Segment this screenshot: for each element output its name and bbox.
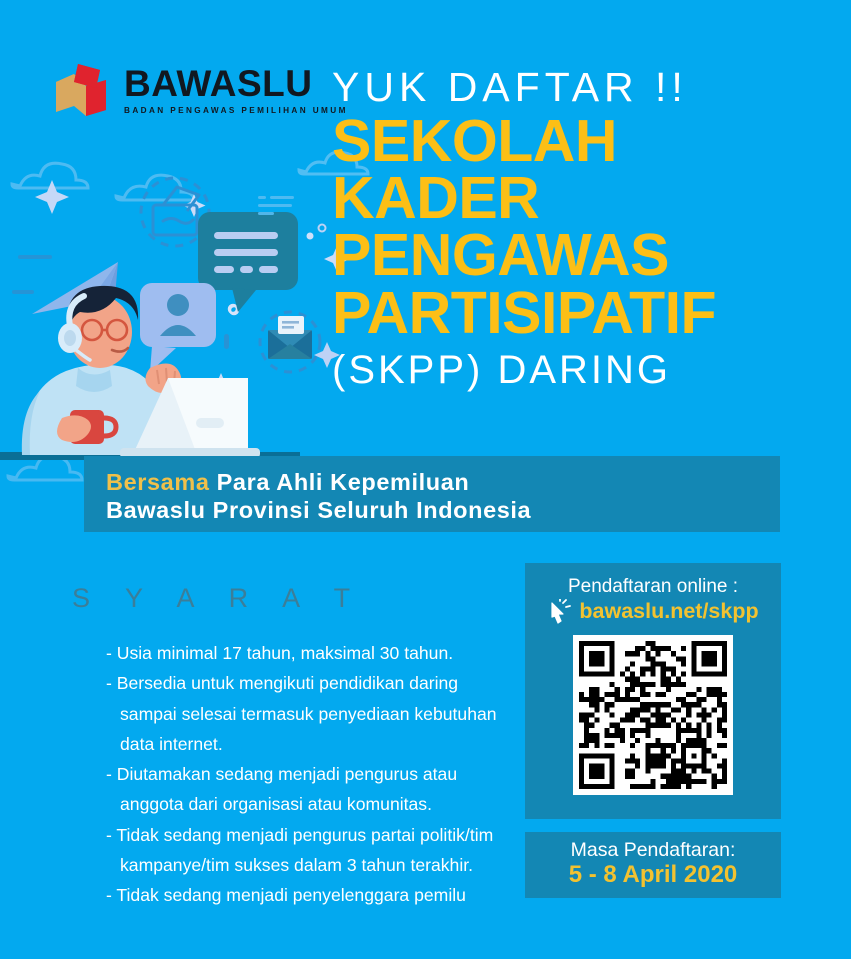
expert-banner: Bersama Para Ahli Kepemiluan Bawaslu Pro… <box>84 456 780 532</box>
headline-subtitle: (SKPP) DARING <box>332 348 832 392</box>
requirement-item: - Bersedia untuk mengikuti pendidikan da… <box>106 668 556 698</box>
sparkle-icon <box>183 194 206 217</box>
expert-banner-inner: Bersama Para Ahli Kepemiluan Bawaslu Pro… <box>84 456 780 524</box>
circle-dot <box>229 305 237 313</box>
period-label: Masa Pendaftaran: <box>525 832 781 861</box>
registration-panel: Pendaftaran online : bawaslu.net/skpp <box>525 563 781 819</box>
requirement-item: anggota dari organisasi atau komunitas. <box>106 789 556 819</box>
click-cursor-icon <box>547 599 573 625</box>
requirement-item: - Diutamakan sedang menjadi pengurus ata… <box>106 759 556 789</box>
registration-period-panel: Masa Pendaftaran: 5 - 8 April 2020 <box>525 832 781 898</box>
expert-banner-rest: Para Ahli Kepemiluan <box>210 469 470 495</box>
headline-line-4: PARTISIPATIF <box>332 285 832 342</box>
headline-line-3: PENGAWAS <box>332 227 832 284</box>
requirements-list: - Usia minimal 17 tahun, maksimal 30 tah… <box>66 638 556 910</box>
poster: BAWASLU BADAN PENGAWAS PEMILIHAN UMUM YU… <box>0 0 851 959</box>
headline-block: YUK DAFTAR !! SEKOLAH KADER PENGAWAS PAR… <box>332 66 832 392</box>
person-laptop-illustration <box>0 286 300 460</box>
circle-dot <box>307 233 314 240</box>
registration-url-row: bawaslu.net/skpp <box>525 599 781 625</box>
motion-dashes <box>206 326 229 349</box>
expert-banner-line-1: Bersama Para Ahli Kepemiluan <box>106 468 780 496</box>
logo-text-block: BAWASLU BADAN PENGAWAS PEMILIHAN UMUM <box>124 65 348 115</box>
expert-banner-highlight: Bersama <box>106 469 210 495</box>
tiny-text-marks <box>258 196 294 215</box>
avatar-bubble-icon <box>140 283 216 372</box>
headline-line-2: KADER <box>332 170 832 227</box>
motion-dashes <box>12 255 52 294</box>
ballot-box-icon <box>52 62 110 118</box>
qr-code[interactable] <box>573 635 733 795</box>
expert-banner-line-2: Bawaslu Provinsi Seluruh Indonesia <box>106 496 780 524</box>
headline-main: SEKOLAH KADER PENGAWAS PARTISIPATIF <box>332 113 832 342</box>
requirement-item: - Tidak sedang menjadi pengurus partai p… <box>106 820 556 850</box>
cloud-icon <box>116 175 194 200</box>
registration-url[interactable]: bawaslu.net/skpp <box>579 599 758 624</box>
sparkle-icon <box>211 373 231 393</box>
requirement-item: - Tidak sedang menjadi penyelenggara pem… <box>106 880 556 910</box>
envelope-dashed-icon <box>260 312 320 372</box>
logo-name: BAWASLU <box>124 65 348 102</box>
circle-dot <box>319 225 326 232</box>
requirement-item: sampai selesai termasuk penyediaan kebut… <box>106 699 556 729</box>
bawaslu-logo: BAWASLU BADAN PENGAWAS PEMILIHAN UMUM <box>52 62 348 118</box>
logo-tagline: BADAN PENGAWAS PEMILIHAN UMUM <box>124 106 348 115</box>
chat-bubble-icon <box>198 212 298 312</box>
paper-plane-icon <box>32 262 118 352</box>
ballot-box-dashed-icon <box>141 178 209 246</box>
requirement-item: data internet. <box>106 729 556 759</box>
motion-dashes <box>228 265 259 284</box>
cloud-icon <box>8 456 82 480</box>
headline-line-1: SEKOLAH <box>332 113 832 170</box>
requirement-item: kampanye/tim sukses dalam 3 tahun terakh… <box>106 850 556 880</box>
period-dates: 5 - 8 April 2020 <box>525 861 781 889</box>
cloud-icon <box>12 163 88 188</box>
qr-code-svg <box>579 641 727 789</box>
registration-label: Pendaftaran online : <box>525 576 781 598</box>
registration-header: Pendaftaran online : bawaslu.net/skpp <box>525 563 781 625</box>
requirement-item: - Usia minimal 17 tahun, maksimal 30 tah… <box>106 638 556 668</box>
headline-kicker: YUK DAFTAR !! <box>332 66 832 109</box>
requirements-title: S Y A R A T <box>72 583 364 614</box>
circle-dot <box>230 306 238 314</box>
sparkle-icon <box>35 180 69 214</box>
